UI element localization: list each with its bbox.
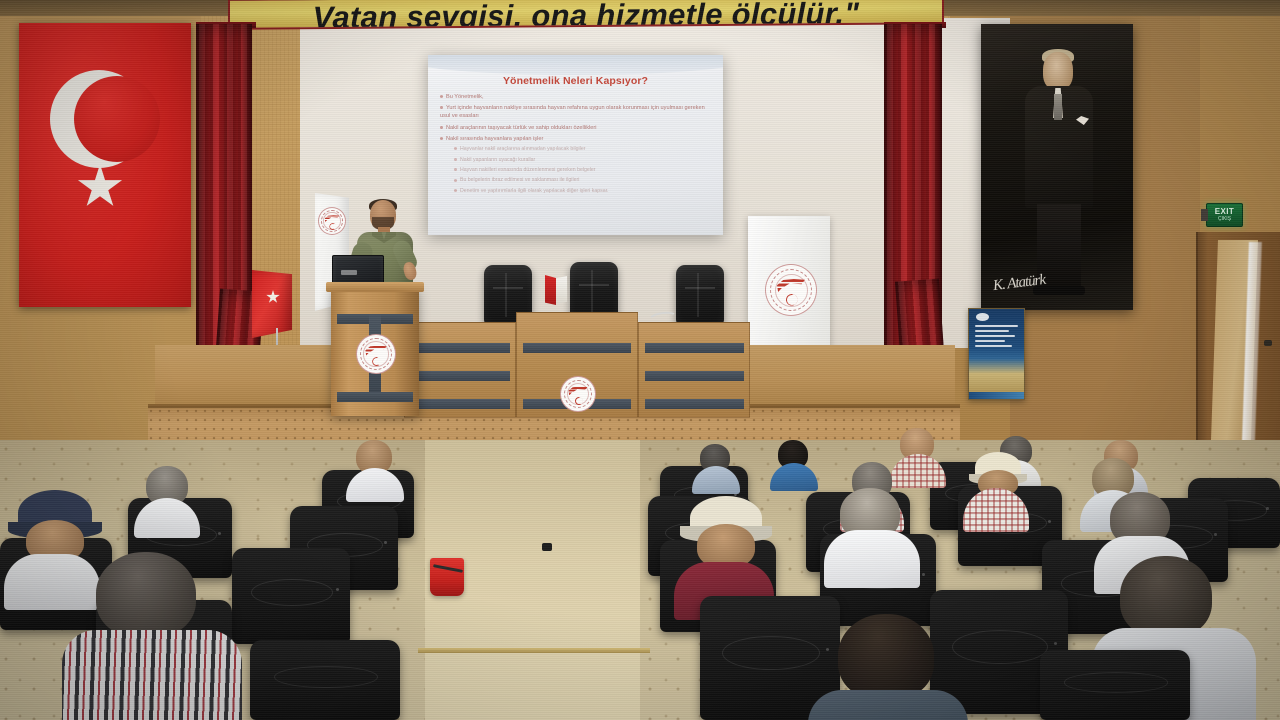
ministry-emblem-icon: [560, 376, 596, 412]
audience-head: [96, 552, 196, 638]
slide-subbullet: Bu belgelerin ibraz edilmesi ve saklanma…: [454, 177, 715, 185]
ataturk-portrait: K. Atatürk: [981, 24, 1133, 310]
audience-shirt: [824, 530, 920, 588]
audience-head: [1120, 556, 1212, 638]
audience-head: [838, 614, 934, 700]
portrait-head: [1043, 52, 1073, 90]
poster-text-lines: [975, 325, 1018, 350]
slide-subbullet: Nakil yapanların uyacağı kurallar: [454, 157, 715, 165]
slide-subbullet: Hayvan nakilleri esnasında düzenlenmesi …: [454, 167, 715, 175]
door-handle[interactable]: [1264, 340, 1272, 346]
auditorium-seat[interactable]: [232, 548, 350, 644]
ministry-emblem-icon: [318, 207, 346, 235]
head-table-right-panel: [638, 322, 750, 418]
red-bucket: [430, 558, 464, 596]
head-table-left-panel: [404, 322, 516, 418]
audience-shirt: [4, 554, 100, 610]
poster-logo-icon: [976, 313, 989, 321]
slide-body: Bu Yönetmelik, Yurt içinde hayvanların n…: [440, 93, 715, 198]
ministry-emblem-icon: [765, 264, 817, 316]
audience-shirt: [808, 690, 968, 720]
slide-subbullet: Hayvanlar nakil araçlarına alınmadan yap…: [454, 146, 715, 154]
audience-shirt: [62, 630, 242, 720]
head-table: [404, 322, 750, 418]
auditorium-seat[interactable]: [250, 640, 400, 720]
exit-sign-primary-label: EXIT: [1215, 208, 1234, 216]
slide-title: Yönetmelik Neleri Kapsıyor?: [428, 75, 723, 87]
crescent-icon: [50, 70, 148, 168]
conference-hall-photo: Vatan sevgisi, ona hizmetle ölçülür." Yö…: [0, 0, 1280, 720]
ministry-emblem-icon: [356, 334, 396, 374]
speaker-podium: [331, 288, 419, 416]
projection-screen: Yönetmelik Neleri Kapsıyor? Bu Yönetmeli…: [428, 55, 723, 235]
exit-sign-secondary-label: ÇIKIŞ: [1218, 216, 1231, 223]
podium-top: [326, 282, 424, 292]
turkish-flag-cloth: [252, 270, 292, 338]
slide-subbullet: Denetim ve yaptırımlarla ilgili olarak y…: [454, 188, 715, 196]
slide-bullet: Nakil sırasında hayvanlara yapılan işler: [440, 135, 715, 143]
slide-bullet: Bu Yönetmelik,: [440, 93, 715, 101]
slide-bullet: Nakil araçlarının taşıyacak türlük ve sa…: [440, 124, 715, 132]
exit-sign: EXIT ÇIKIŞ: [1206, 203, 1243, 227]
wall-banner-text: Vatan sevgisi, ona hizmetle ölçülür.": [313, 0, 860, 30]
slide-bullet: Yurt içinde hayvanların nakliye sırasınd…: [440, 104, 715, 120]
desk-flag: [545, 275, 567, 315]
auditorium-seat[interactable]: [1040, 650, 1190, 720]
executive-chair: [676, 265, 724, 325]
star-icon: [77, 164, 123, 210]
turkish-flag-banner: [19, 23, 191, 307]
wall-poster: [968, 308, 1025, 400]
exit-sign-bracket: [1201, 209, 1208, 221]
step-nosing: [418, 648, 650, 653]
poster-footer-bar: [969, 392, 1024, 399]
floor-fixture: [542, 543, 552, 551]
portrait-tie: [1054, 94, 1062, 120]
